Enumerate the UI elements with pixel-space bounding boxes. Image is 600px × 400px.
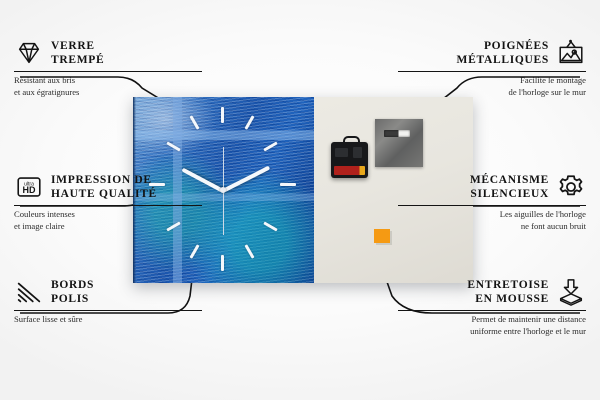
clock-tick-1 bbox=[244, 115, 254, 129]
diamond-icon bbox=[14, 38, 44, 68]
callout-description: Surface lisse et sûre bbox=[14, 314, 202, 326]
clock-tick-4 bbox=[263, 221, 277, 231]
clock-tick-5 bbox=[244, 244, 254, 258]
callout-title: MÉCANISME SILENCIEUX bbox=[470, 173, 549, 201]
feature-callout-poignees-metalliques[interactable]: POIGNÉES MÉTALLIQUES Facilite le montage… bbox=[398, 38, 586, 99]
clock-tick-6 bbox=[221, 255, 224, 271]
clock-tick-7 bbox=[189, 244, 199, 258]
callout-title: BORDS POLIS bbox=[51, 278, 94, 306]
battery bbox=[334, 166, 365, 175]
clock-tick-10 bbox=[166, 141, 180, 151]
callout-title: ENTRETOISE EN MOUSSE bbox=[467, 278, 549, 306]
callout-header: POIGNÉES MÉTALLIQUES bbox=[398, 38, 586, 68]
callout-title: IMPRESSION DE HAUTE QUALITÉ bbox=[51, 173, 157, 201]
foam-spacer-icon bbox=[556, 277, 586, 307]
callout-divider bbox=[14, 310, 202, 311]
mechanism-detail-b bbox=[335, 148, 348, 157]
hanger-slot bbox=[384, 130, 410, 137]
feature-callout-impression-haute-qualite[interactable]: ultra HD IMPRESSION DE HAUTE QUALITÉ Cou… bbox=[14, 172, 202, 233]
feature-callout-bords-polis[interactable]: BORDS POLIS Surface lisse et sûre bbox=[14, 277, 202, 326]
quartz-mechanism bbox=[331, 142, 368, 178]
callout-description: Couleurs intenses et image claire bbox=[14, 209, 202, 232]
callout-header: BORDS POLIS bbox=[14, 277, 202, 307]
polished-edges-icon bbox=[14, 277, 44, 307]
clock-tick-3 bbox=[280, 183, 296, 186]
callout-divider bbox=[398, 71, 586, 72]
clock-tick-2 bbox=[263, 141, 277, 151]
callout-header: MÉCANISME SILENCIEUX bbox=[398, 172, 586, 202]
mechanism-detail-a bbox=[353, 147, 362, 158]
picture-frame-icon bbox=[556, 38, 586, 68]
feature-callout-mecanisme-silencieux[interactable]: MÉCANISME SILENCIEUX Les aiguilles de l'… bbox=[398, 172, 586, 233]
infographic-stage: VERRE TREMPÉ Résistant aux bris et aux é… bbox=[0, 0, 600, 400]
mechanism-hook bbox=[343, 136, 360, 146]
callout-header: ultra HD IMPRESSION DE HAUTE QUALITÉ bbox=[14, 172, 202, 202]
callout-description: Les aiguilles de l'horloge ne font aucun… bbox=[398, 209, 586, 232]
foam-spacer bbox=[374, 229, 390, 243]
callout-title: POIGNÉES MÉTALLIQUES bbox=[457, 39, 549, 67]
callout-divider bbox=[14, 205, 202, 206]
callout-divider bbox=[398, 205, 586, 206]
callout-description: Résistant aux bris et aux égratignures bbox=[14, 75, 202, 98]
callout-header: VERRE TREMPÉ bbox=[14, 38, 202, 68]
svg-text:HD: HD bbox=[23, 185, 36, 195]
callout-title: VERRE TREMPÉ bbox=[51, 39, 104, 67]
callout-divider bbox=[398, 310, 586, 311]
feature-callout-entretoise-en-mousse[interactable]: ENTRETOISE EN MOUSSE Permet de maintenir… bbox=[398, 277, 586, 338]
feature-callout-verre-trempe[interactable]: VERRE TREMPÉ Résistant aux bris et aux é… bbox=[14, 38, 202, 99]
metal-hanger-plate bbox=[375, 119, 423, 167]
clock-tick-12 bbox=[221, 107, 224, 123]
callout-description: Facilite le montage de l'horloge sur le … bbox=[398, 75, 586, 98]
clock-minute-hand bbox=[222, 166, 270, 193]
callout-header: ENTRETOISE EN MOUSSE bbox=[398, 277, 586, 307]
callout-description: Permet de maintenir une distance uniform… bbox=[398, 314, 586, 337]
clock-pivot bbox=[220, 187, 226, 193]
ultra-hd-icon: ultra HD bbox=[14, 172, 44, 202]
callout-divider bbox=[14, 71, 202, 72]
clock-tick-11 bbox=[189, 115, 199, 129]
gear-icon bbox=[556, 172, 586, 202]
